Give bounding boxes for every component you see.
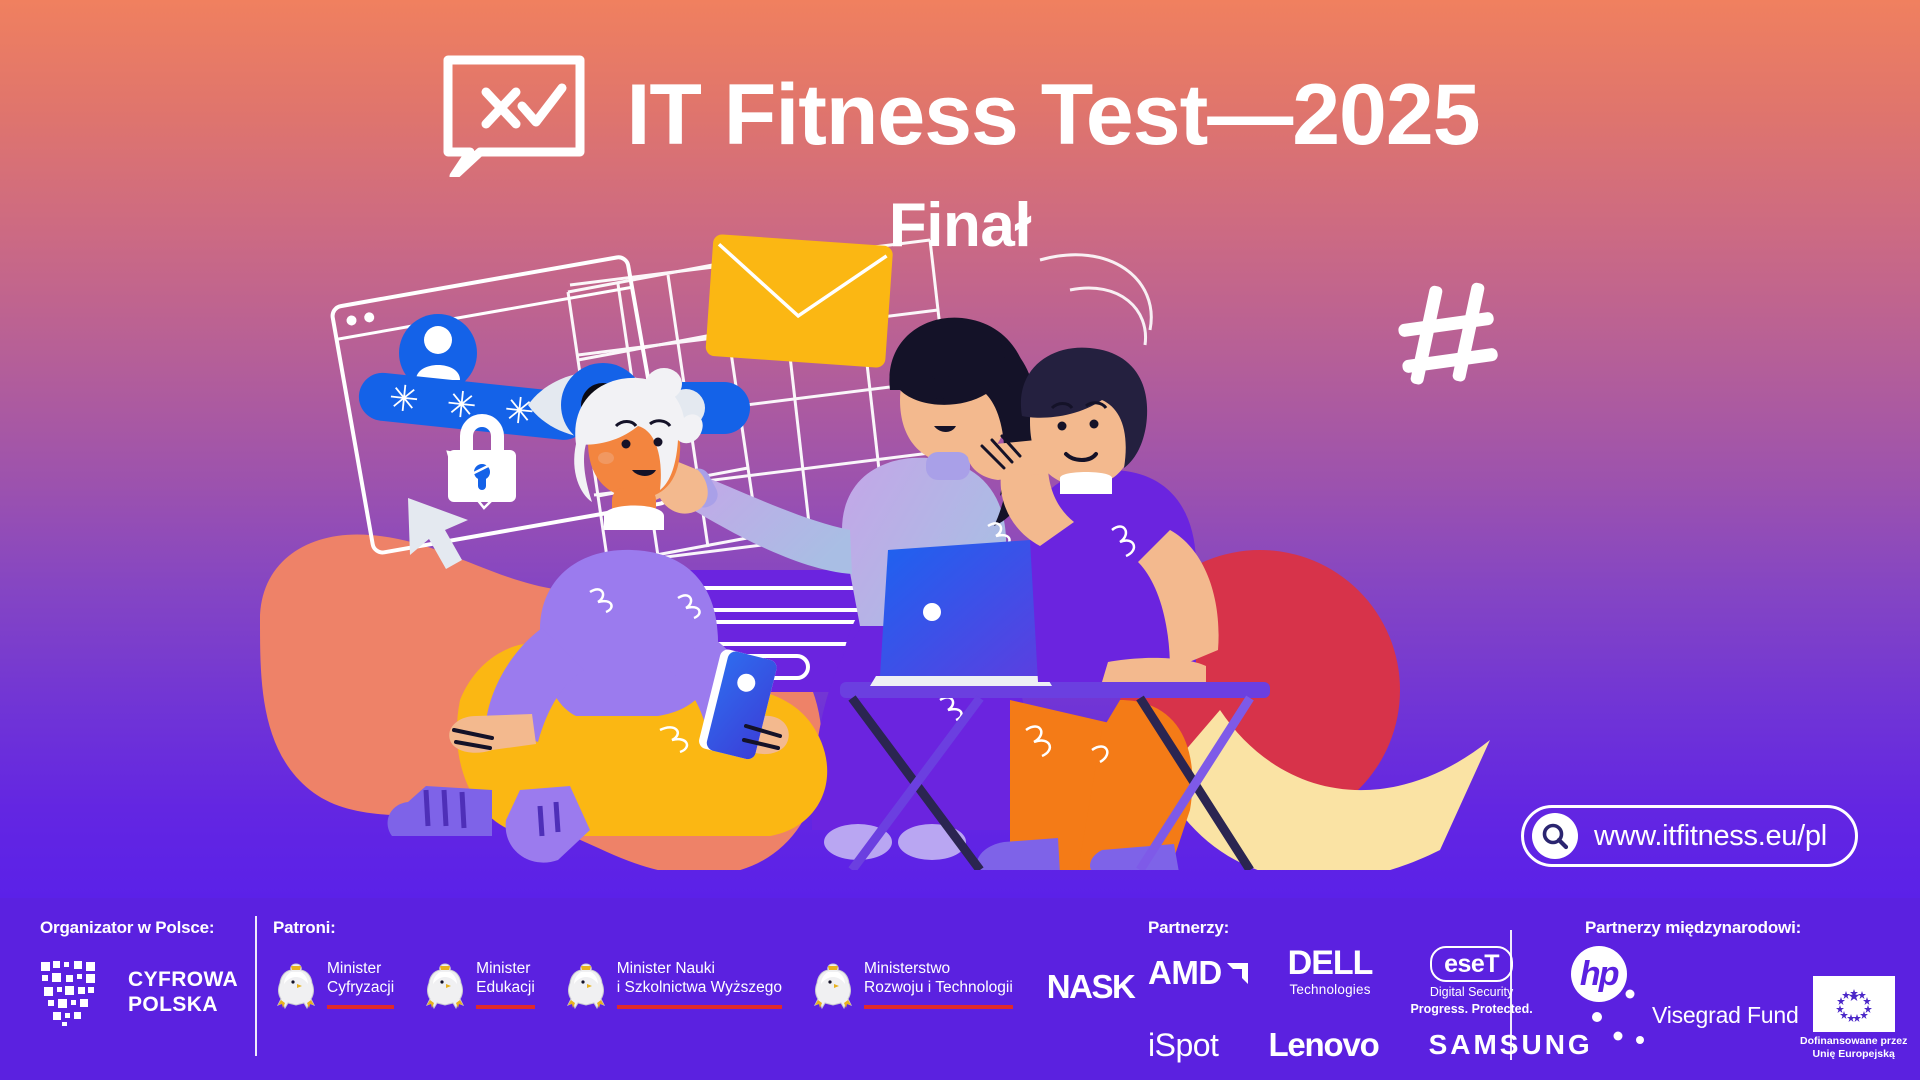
eu-funding-caption: Dofinansowane przez Unię Europejską <box>1800 1035 1907 1061</box>
patron-logo: Ministerstwo Rozwoju i Technologii <box>810 960 1013 1014</box>
amd-arrow-icon <box>1224 960 1250 986</box>
digital-skills-illustration: ✳ ✳ ✳ <box>240 230 1670 870</box>
partner-row-2: iSpot Lenovo SAMSUNG <box>1148 1026 1627 1064</box>
polish-flag-bar <box>327 1005 394 1009</box>
partner-row-1: AMD DELL Technologies eseT Digital Secur… <box>1148 946 1627 1016</box>
patron-text: Minister Nauki i Szkolnictwa Wyższego <box>617 960 782 1009</box>
visegrad-fund-label: Visegrad Fund <box>1652 1002 1799 1029</box>
amd-logo: AMD <box>1148 954 1250 992</box>
divider <box>255 916 257 1056</box>
patron-text: Minister Edukacji <box>476 960 535 1009</box>
polish-eagle-icon <box>563 960 609 1014</box>
dell-logo: DELL Technologies <box>1288 946 1373 997</box>
polish-eagle-icon <box>422 960 468 1014</box>
poster: IT Fitness Test—2025 Finał <box>0 0 1920 1080</box>
decor-arcs <box>1040 255 1151 345</box>
svg-text:✳: ✳ <box>502 389 536 433</box>
envelope-icon <box>705 234 893 368</box>
magnifier-icon <box>1532 813 1578 859</box>
page-title: IT Fitness Test—2025 <box>626 72 1479 158</box>
ispot-logo: iSpot <box>1148 1027 1218 1064</box>
organizer-name: CYFROWA POLSKA <box>128 968 238 1018</box>
organizer-label: Organizator w Polsce: <box>40 918 214 938</box>
eu-funding-logo: Dofinansowane przez Unię Europejską <box>1800 976 1907 1061</box>
patron-logos: Minister Cyfryzacji Minister Ed <box>273 960 1134 1014</box>
cyfrowa-polska-logo: CYFROWA POLSKA <box>40 960 238 1026</box>
laptop <box>870 540 1052 686</box>
hero-section: IT Fitness Test—2025 Finał <box>0 0 1920 898</box>
website-url: www.itfitness.eu/pl <box>1594 820 1827 853</box>
partners-label: Partnerzy: <box>1148 918 1229 938</box>
patrons-label: Patroni: <box>273 918 336 938</box>
visegrad-fund-logo: Visegrad Fund <box>1588 984 1799 1046</box>
patron-logo: Minister Edukacji <box>422 960 535 1014</box>
nask-logo: NASK <box>1047 968 1135 1006</box>
polish-flag-bar <box>864 1005 1013 1009</box>
svg-text:✳: ✳ <box>387 377 421 421</box>
patron-text: Minister Cyfryzacji <box>327 960 394 1009</box>
polish-eagle-icon <box>810 960 856 1014</box>
intl-partners-label: Partnerzy międzynarodowi: <box>1585 918 1801 938</box>
footer: Organizator w Polsce: <box>0 898 1920 1080</box>
eset-logo: eseT Digital Security Progress. Protecte… <box>1410 946 1532 1016</box>
website-badge[interactable]: www.itfitness.eu/pl <box>1521 805 1858 867</box>
lenovo-logo: Lenovo <box>1268 1026 1378 1064</box>
patron-logo: Minister Nauki i Szkolnictwa Wyższego <box>563 960 782 1014</box>
speech-bubble-check-icon <box>440 52 588 177</box>
title-row: IT Fitness Test—2025 <box>0 52 1920 177</box>
polish-flag-bar <box>617 1005 782 1009</box>
polish-eagle-icon <box>273 960 319 1014</box>
cyfrowa-polska-dots-icon <box>40 960 112 1026</box>
polish-flag-bar <box>476 1005 535 1009</box>
hash-icon <box>1398 282 1499 386</box>
partner-logos: AMD DELL Technologies eseT Digital Secur… <box>1148 946 1627 1064</box>
patron-text: Ministerstwo Rozwoju i Technologii <box>864 960 1013 1009</box>
patron-logo: Minister Cyfryzacji <box>273 960 394 1014</box>
divider <box>1510 930 1512 1060</box>
eu-stars-icon <box>1813 976 1895 1032</box>
